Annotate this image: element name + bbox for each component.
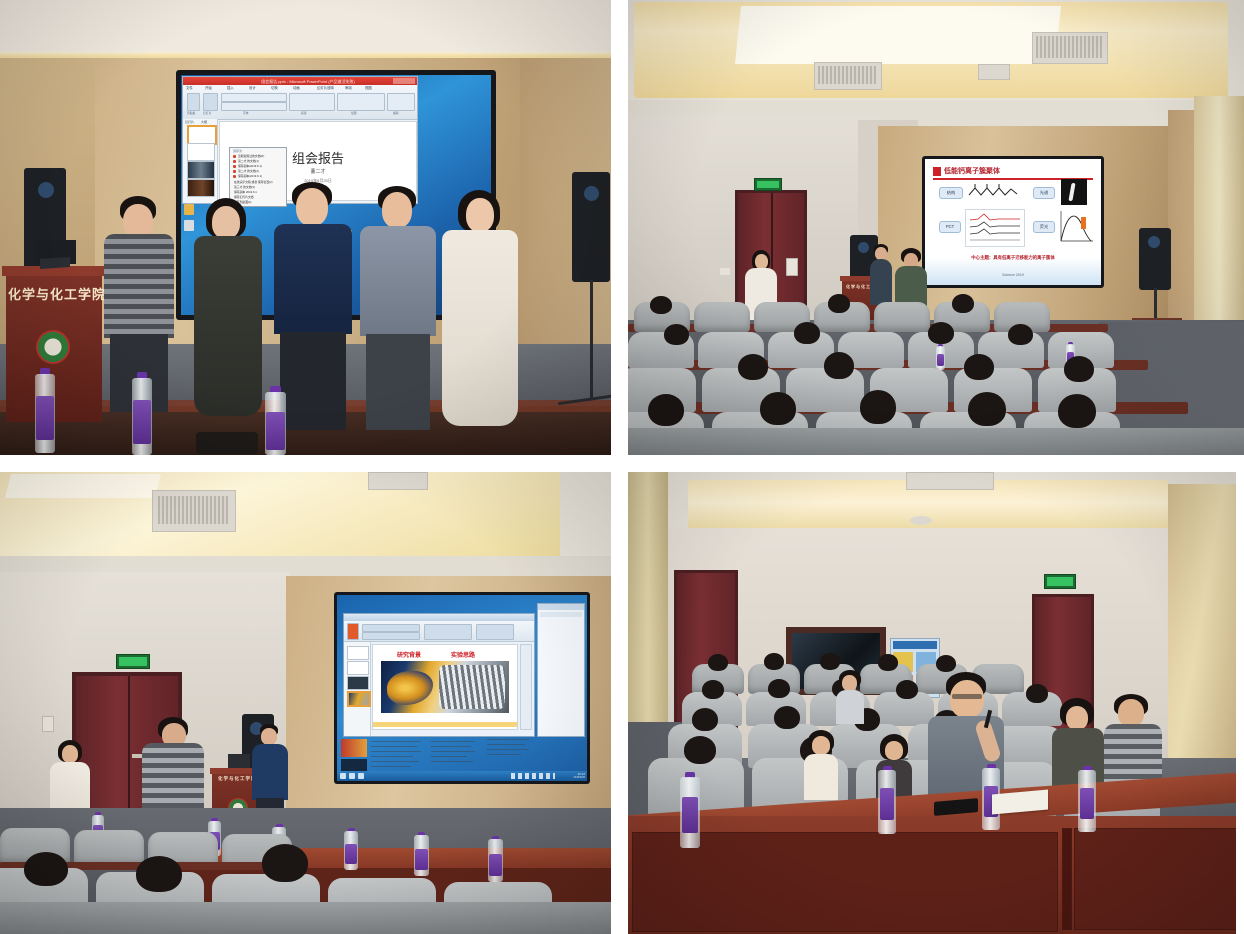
table-panel-right (1074, 828, 1236, 930)
grey-shirt (360, 226, 436, 336)
seat-row-1 (628, 428, 1244, 455)
photo-top-left: 组会报告.pptx - Microsoft PowerPoint (产品激活失败… (0, 0, 611, 455)
water-bottle (878, 766, 896, 834)
audience-head (768, 679, 790, 698)
slide-box-spectra: 光谱 (1033, 187, 1055, 199)
dark-dress (194, 236, 262, 416)
slide-illustration (381, 661, 509, 713)
office-button[interactable] (347, 623, 359, 640)
structure-diagram (967, 183, 1023, 201)
desktop-text-block-3 (487, 739, 531, 765)
context-menu-item-4[interactable]: 保存副本(2019.6.1) (238, 174, 284, 178)
slide-thumbnail-3[interactable] (187, 161, 215, 179)
menu-item-icon (233, 170, 236, 173)
ribbon-tab-2[interactable]: 插入 (227, 85, 234, 90)
slide-caption: 中心主题：具有低离子迁移能力的离子簇体 (925, 255, 1101, 261)
context-menu-item-1[interactable]: 第二才 的文档(1) (238, 159, 284, 163)
podium-label: 化学与化工学院 (8, 284, 106, 303)
spectra-plot (965, 209, 1025, 247)
spectra-traces (966, 210, 1024, 246)
address-bar[interactable] (540, 612, 582, 617)
molecule-sketch (967, 183, 1023, 201)
slide-canvas[interactable]: 研究背景 实验思路 (372, 644, 518, 730)
water-bottle (34, 368, 56, 453)
ribbon-tab-6[interactable]: 幻灯片放映 (317, 85, 334, 90)
paste-button[interactable] (187, 93, 200, 111)
ceiling-speaker (910, 516, 932, 525)
window-title: 组会报告.pptx - Microsoft PowerPoint (产品激活失败… (233, 78, 383, 85)
desktop-text-block-1 (371, 741, 423, 771)
slide-thumbnail-pane[interactable] (344, 642, 371, 736)
side-window[interactable] (537, 603, 585, 737)
new-slide-button[interactable] (203, 93, 218, 111)
slide-box-fluorescence: 荧光 (1033, 221, 1055, 233)
audience-head (878, 654, 898, 671)
pane-tab-slides[interactable]: 幻灯片 (185, 120, 194, 124)
water-bottle (131, 372, 153, 455)
vertical-scrollbar[interactable] (520, 644, 532, 730)
slide-box-pct: PCT (939, 221, 961, 233)
slide-box-structure: 结构 (939, 187, 963, 199)
taskbar-clock: 16:42 (577, 772, 585, 776)
podium-laptop (228, 754, 250, 768)
menu-item-icon (233, 155, 236, 158)
slide-canvas[interactable]: 低能钙离子簇聚体 结构 光谱 PCT (925, 159, 1101, 285)
speaker-cone (1148, 236, 1160, 248)
person-2 (188, 198, 268, 428)
align-group[interactable] (289, 93, 335, 111)
audience-head (702, 680, 724, 699)
side-window-titlebar (538, 604, 584, 610)
window-curtain (628, 472, 668, 722)
laptop-keyboard (40, 257, 70, 269)
ribbon[interactable]: 文件 开始 插入 设计 切换 动画 幻灯片放映 审阅 视图 剪贴板 (183, 85, 417, 120)
taskbar-icon[interactable] (358, 773, 364, 779)
speaker-stand (1154, 288, 1157, 322)
slide-dark-image (1061, 179, 1087, 205)
slide-thumbnail-1[interactable] (187, 125, 217, 145)
ribbon-tab-3[interactable]: 设计 (249, 85, 256, 90)
font-group[interactable] (362, 624, 420, 632)
audience-head (764, 653, 784, 670)
system-tray[interactable] (511, 773, 555, 779)
audience-head (1026, 684, 1048, 703)
context-menu-item-3[interactable]: 第二才 的文档(2) (238, 169, 284, 173)
striped-shirt (104, 234, 174, 338)
desktop-thumbnail[interactable] (341, 739, 367, 757)
ribbon-tab-1[interactable]: 开始 (205, 85, 212, 90)
school-emblem (36, 330, 70, 364)
context-menu-title: 另存为 (233, 149, 242, 153)
exit-sign (1044, 574, 1076, 589)
audience-head (820, 653, 840, 670)
bag-on-floor (196, 432, 258, 454)
window-titlebar (344, 614, 534, 621)
start-button[interactable] (340, 773, 346, 779)
speaker-cone (38, 182, 54, 198)
font-group[interactable] (221, 93, 287, 102)
ribbon-group-label-clipboard: 剪贴板 (187, 111, 195, 115)
seat-row-front (0, 902, 611, 934)
slide-title: 低能钙离子簇聚体 (944, 166, 1000, 176)
ribbon-group-label-slides: 幻灯片 (203, 111, 211, 115)
ribbon-group-label-drawing: 绘图 (351, 111, 357, 115)
speaker-stand (590, 280, 593, 400)
ceiling-light-panel (735, 6, 1061, 64)
ribbon-tab-5[interactable]: 动画 (293, 85, 300, 90)
ceiling-light-panel (5, 474, 161, 498)
white-dress (442, 230, 518, 426)
ac-vent (368, 472, 428, 490)
drawing-group[interactable] (337, 93, 385, 111)
ac-vent (906, 472, 994, 490)
ribbon-group-label-editing: 编辑 (393, 111, 399, 115)
audience-head (936, 655, 956, 672)
title-accent-bar (933, 167, 941, 176)
audience-head (262, 844, 308, 882)
navy-polo (274, 224, 352, 334)
drawing-group[interactable] (424, 624, 472, 640)
photo-collage: 组会报告.pptx - Microsoft PowerPoint (产品激活失败… (0, 0, 1244, 934)
curve-plot (1057, 207, 1095, 247)
ac-vent (978, 64, 1010, 80)
editing-group[interactable] (387, 93, 415, 111)
water-bottle (1078, 766, 1096, 832)
ribbon-group-label-font: 字体 (243, 111, 249, 115)
eyeglasses (952, 694, 982, 699)
slide-footer-bar (373, 722, 517, 727)
menu-item-icon (233, 165, 236, 168)
slide-heading-left: 研究背景 (397, 650, 421, 659)
seated-student-c (836, 670, 864, 724)
ribbon-tab-0[interactable]: 文件 (186, 85, 193, 90)
slide-footer: Science 2019 (925, 273, 1101, 277)
audience-head (774, 706, 800, 729)
podium-label: 化学与化工学院 (218, 776, 257, 782)
taskbar-icon[interactable] (349, 773, 355, 779)
audience-head (896, 680, 918, 699)
water-bottle (680, 772, 700, 848)
menu-item-icon (233, 160, 236, 163)
wall-switch-panel[interactable] (42, 716, 54, 732)
window-controls[interactable] (393, 78, 415, 84)
slide-thumbnail-pane[interactable]: 幻灯片 大纲 (183, 119, 218, 203)
light-switch[interactable] (720, 268, 730, 275)
water-bottle (264, 386, 287, 455)
audience-head (136, 856, 182, 892)
exit-sign (116, 654, 150, 669)
photo-top-right: 低能钙离子簇聚体 结构 光谱 PCT (628, 0, 1244, 455)
audience-head (24, 852, 68, 886)
context-menu-item-0[interactable]: 近期使用过的文档(R) (238, 154, 284, 158)
slide-heading-right: 实验思路 (451, 650, 475, 659)
paragraph-group[interactable] (362, 632, 420, 640)
fluorescence-plot (1057, 207, 1095, 247)
table-panel-mid (1062, 828, 1072, 930)
professor-asking-question (924, 672, 1014, 808)
paragraph-group[interactable] (221, 102, 287, 111)
seated-student-a (804, 730, 838, 800)
ribbon-tab-7[interactable]: 审阅 (345, 85, 352, 90)
pane-tab-outline[interactable]: 大纲 (201, 120, 207, 124)
windows-desktop[interactable]: 研究背景 实验思路 (337, 595, 587, 781)
audience-head (692, 708, 718, 731)
taskbar-date: 2019/6/25 (573, 776, 585, 779)
ribbon-tab-4[interactable]: 切换 (271, 85, 278, 90)
context-menu-item-2[interactable]: 保存副本(2019.6.1) (238, 164, 284, 168)
photo-bottom-left: 研究背景 实验思路 (0, 472, 611, 934)
person-4 (356, 186, 440, 432)
powerpoint-window[interactable]: 研究背景 实验思路 (343, 613, 535, 737)
ribbon-tab-8[interactable]: 视图 (365, 85, 372, 90)
audience-head (684, 736, 716, 764)
ribbon-group-label-paragraph: 段落 (301, 111, 307, 115)
slide-thumbnail-4[interactable] (187, 179, 215, 197)
editing-group[interactable] (476, 624, 514, 640)
menu-item-icon (233, 175, 236, 178)
speaker-cone (584, 186, 599, 201)
photo-bottom-right (628, 472, 1236, 934)
exit-sign (754, 178, 782, 191)
taskbar[interactable]: 16:42 2019/6/25 (337, 771, 587, 781)
person-5 (438, 190, 522, 432)
desktop-text-block-2 (431, 741, 477, 771)
audience-head (708, 654, 728, 671)
wall-notice (786, 258, 798, 276)
slide-thumbnail-2[interactable] (187, 143, 215, 161)
